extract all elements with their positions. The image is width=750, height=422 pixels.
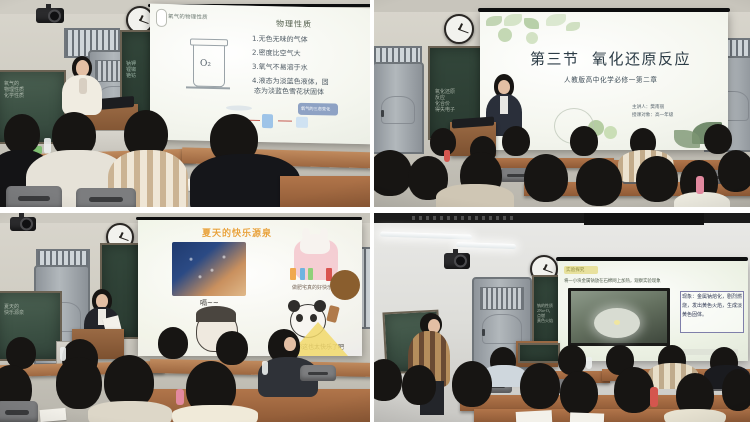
- student-head: [636, 156, 678, 202]
- slide-prompt: 将一小块金属钠放在石棉网上加热，观察实验现象: [564, 278, 661, 284]
- lime-decor: [498, 28, 512, 42]
- slide-caption-right: 做肥宅真的好快乐: [292, 284, 332, 291]
- drink-cup: [308, 268, 313, 280]
- photo-collage-grid: 氧气的 物理性质 化学性质 钠钾 锂铷 铯钫 氧气的物理性质 物理性质 1.无色…: [0, 0, 750, 422]
- teacher-face: [498, 80, 510, 94]
- projector-icon: [36, 8, 64, 23]
- slide-heading: 物理性质: [276, 18, 312, 30]
- cartoon-ear: [320, 228, 328, 240]
- worksheet-paper: [516, 410, 553, 422]
- lime-decor: [526, 32, 538, 44]
- student-head: [452, 361, 492, 407]
- classroom-door: [374, 62, 424, 154]
- student-head: [704, 124, 732, 154]
- sodium-sample: [614, 320, 620, 325]
- teacher-collar: [79, 78, 87, 94]
- slide-audience: 授课对象：高一年级: [632, 112, 673, 118]
- collage-panel-bottom-right[interactable]: 钠的性质 2Na+O₂ 点燃 黄色火焰 实验探究 将一小块金属钠放在石棉网上加热…: [374, 213, 750, 422]
- water-bottle: [262, 361, 268, 375]
- student-body: [674, 192, 730, 207]
- panda-eye: [296, 314, 303, 322]
- student-face: [284, 337, 296, 351]
- student-head: [502, 126, 530, 156]
- student-head: [576, 158, 622, 206]
- blackboard-chalk-text: 氧气的 物理性质 化学性质: [4, 82, 24, 100]
- student-body: [436, 184, 514, 207]
- cartoon-ear: [302, 228, 310, 240]
- student-head: [402, 365, 436, 405]
- state-icon-liquid: [262, 114, 273, 128]
- worksheet-paper: [570, 412, 604, 422]
- collage-panel-top-left[interactable]: 氧气的 物理性质 化学性质 钠钾 锂铷 铯钫 氧气的物理性质 物理性质 1.无色…: [0, 0, 370, 207]
- student-head: [56, 357, 102, 409]
- slide-presenter: 主讲人：樊南丽: [632, 104, 664, 110]
- water-bottle: [586, 357, 592, 369]
- blackboard-chalk-text: 钠的性质 2Na+O₂ 点燃 黄色火焰: [537, 303, 553, 323]
- student-body: [88, 401, 172, 422]
- meme-hair: [196, 306, 236, 322]
- wall-clock-icon: [444, 14, 474, 44]
- panda-eye: [310, 314, 317, 322]
- slide-footer-tag-label: 氧气的三态变化: [301, 106, 330, 112]
- student-head: [722, 369, 750, 411]
- chair-back: [0, 401, 38, 422]
- slide-bullet-1: 1.无色无味的气体: [252, 34, 308, 45]
- water-bottle: [444, 150, 450, 162]
- teacher-face: [96, 294, 108, 308]
- student-head: [374, 150, 412, 196]
- slide-tag-label: 氧气的物理性质: [168, 12, 208, 21]
- gas-jar-label: O₂: [200, 59, 211, 69]
- gas-jar-lid: [190, 38, 228, 46]
- collage-panel-top-right[interactable]: 氧化还原 反应 化合价 得失电子 第三节 氧化还原反应 人教版高中化学必修一第二…: [374, 0, 750, 207]
- panda-ear: [314, 300, 326, 312]
- slide-bullet-2: 2.密度比空气大: [252, 48, 301, 59]
- student-body: [172, 405, 258, 422]
- chair-back: [300, 365, 336, 381]
- state-icon-solid: [296, 117, 308, 128]
- water-bottle: [60, 347, 66, 361]
- slide-subtitle: 人教版高中化学必修一第二章: [564, 74, 658, 84]
- blackboard-chalk-text: 夏天的 快乐源泉: [4, 305, 24, 317]
- student-head: [216, 331, 248, 365]
- lime-decor: [604, 126, 617, 139]
- drink-cup: [290, 268, 296, 280]
- drink-cup: [300, 268, 305, 280]
- projection-screen[interactable]: 氧气的物理性质 物理性质 1.无色无味的气体 2.密度比空气大 3.氧气不易溶于…: [150, 4, 370, 145]
- student-head: [560, 371, 598, 415]
- blackboard-side-chalk: 钠钾 锂铷 铯钫: [126, 62, 136, 80]
- collage-panel-bottom-left[interactable]: 夏天的 快乐源泉 夏天的快乐源泉 做肥宅真的好快乐 嗝~~: [0, 213, 370, 422]
- student-head: [570, 126, 598, 156]
- student-head: [614, 367, 654, 413]
- teacher-face: [76, 60, 89, 76]
- experiment-video-frame[interactable]: [568, 288, 670, 346]
- slide-tag-shape: [156, 9, 167, 27]
- chair-back: [76, 188, 136, 207]
- water-bottle: [696, 176, 704, 194]
- projection-screen[interactable]: 实验探究 将一小块金属钠放在石棉网上加热，观察实验现象 现象：金属钠熔化，剧烈燃…: [558, 261, 748, 361]
- panda-ear: [288, 300, 300, 312]
- observation-text: 现象：金属钠熔化，剧烈燃烧，发出黄色火焰，生成淡黄色固体。: [682, 293, 742, 320]
- student-head: [524, 154, 568, 202]
- student-head: [4, 114, 40, 154]
- slide-title: 第三节 氧化还原反应: [530, 48, 691, 69]
- lectern-panel: [518, 343, 560, 363]
- projector-icon: [10, 217, 36, 231]
- leaf-decor: [524, 18, 539, 29]
- student-head: [520, 363, 560, 409]
- teacher-shirt: [500, 96, 508, 114]
- slide-bullet-5: 态为淡蓝色雪花状固体: [254, 86, 324, 97]
- water-bottle: [176, 389, 184, 405]
- projector-icon: [444, 253, 470, 269]
- water-bottle: [650, 387, 658, 407]
- student-head: [158, 327, 188, 359]
- slide-title: 夏天的快乐源泉: [202, 226, 272, 239]
- student-head: [430, 128, 456, 156]
- front-desk: [280, 176, 370, 207]
- ceiling-beam-2: [584, 213, 704, 225]
- student-body: [664, 409, 726, 422]
- meme-photo-sparkle: [176, 246, 236, 290]
- blackboard-chalk-text: 氧化还原 反应 化合价 得失电子: [435, 90, 455, 114]
- sunflower-center: [330, 270, 360, 300]
- chair-back: [6, 186, 62, 207]
- water-bottle: [44, 138, 51, 154]
- slide-tag-label: 实验探究: [566, 267, 584, 273]
- slide-bullet-3: 3.氧气不易溶于水: [252, 62, 308, 73]
- worksheet-paper: [40, 408, 67, 422]
- student-head: [718, 150, 750, 192]
